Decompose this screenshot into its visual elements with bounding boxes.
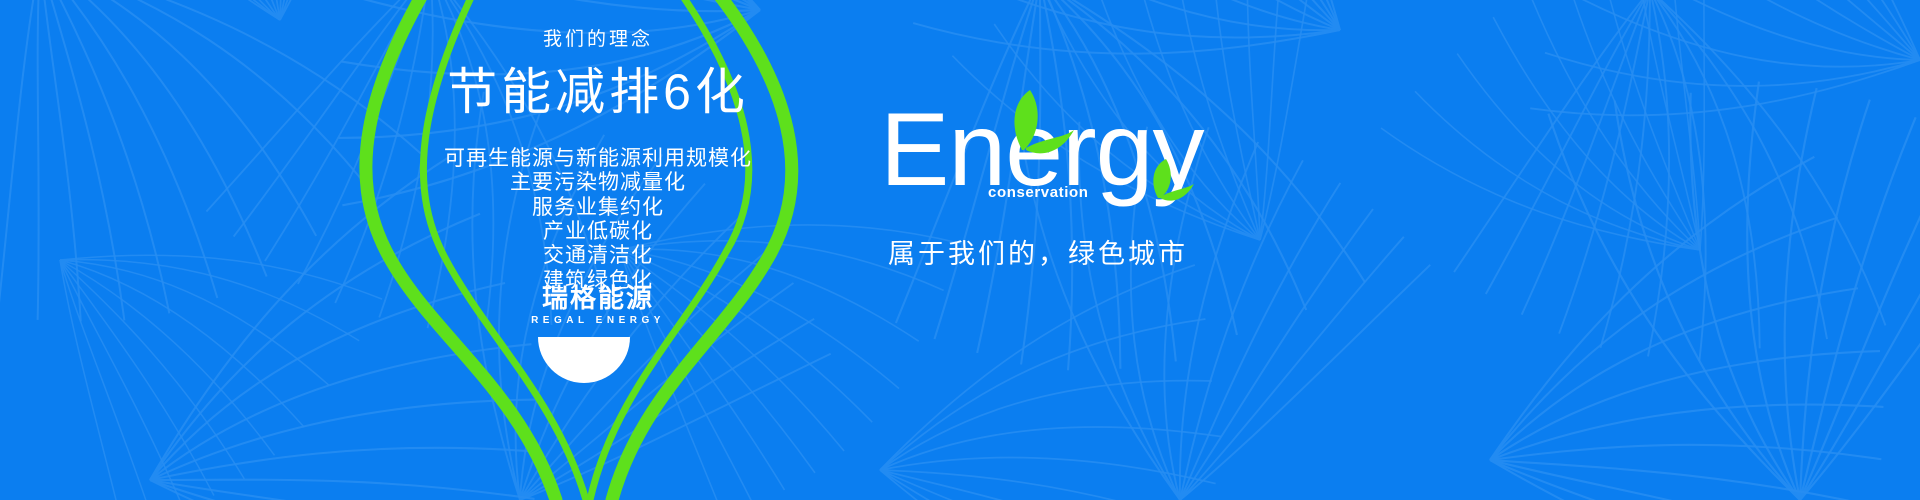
bulb-base-icon [538, 337, 630, 383]
headline-text: 节能减排6化 [318, 67, 878, 117]
list-item: 可再生能源与新能源利用规模化 [318, 147, 878, 171]
right-wordmark-block: Energy conservation 属于我们的，绿色城市 [880, 100, 1310, 271]
list-item: 产业低碳化 [318, 220, 878, 244]
energy-wordmark: Energy [880, 100, 1310, 200]
logo-name-cn: 瑞格能源 [318, 286, 878, 312]
energy-conservation-banner: 我们的理念 节能减排6化 可再生能源与新能源利用规模化 主要污染物减量化 服务业… [0, 0, 1920, 500]
wordmark-wrap: Energy conservation [880, 100, 1310, 200]
leaf-icon [980, 88, 1080, 154]
list-item: 服务业集约化 [318, 196, 878, 220]
eyebrow-text: 我们的理念 [318, 30, 878, 49]
company-logo: 瑞格能源 REGAL ENERGY [318, 286, 878, 326]
concept-list: 可再生能源与新能源利用规模化 主要污染物减量化 服务业集约化 产业低碳化 交通清… [318, 147, 878, 293]
list-item: 主要污染物减量化 [318, 171, 878, 195]
list-item: 交通清洁化 [318, 244, 878, 268]
leaf-icon [1128, 156, 1198, 202]
right-tagline: 属于我们的，绿色城市 [888, 232, 1310, 271]
logo-name-en: REGAL ENERGY [318, 316, 878, 326]
left-copy-block: 我们的理念 节能减排6化 可再生能源与新能源利用规模化 主要污染物减量化 服务业… [318, 30, 878, 293]
conservation-subtitle: conservation [988, 184, 1089, 201]
